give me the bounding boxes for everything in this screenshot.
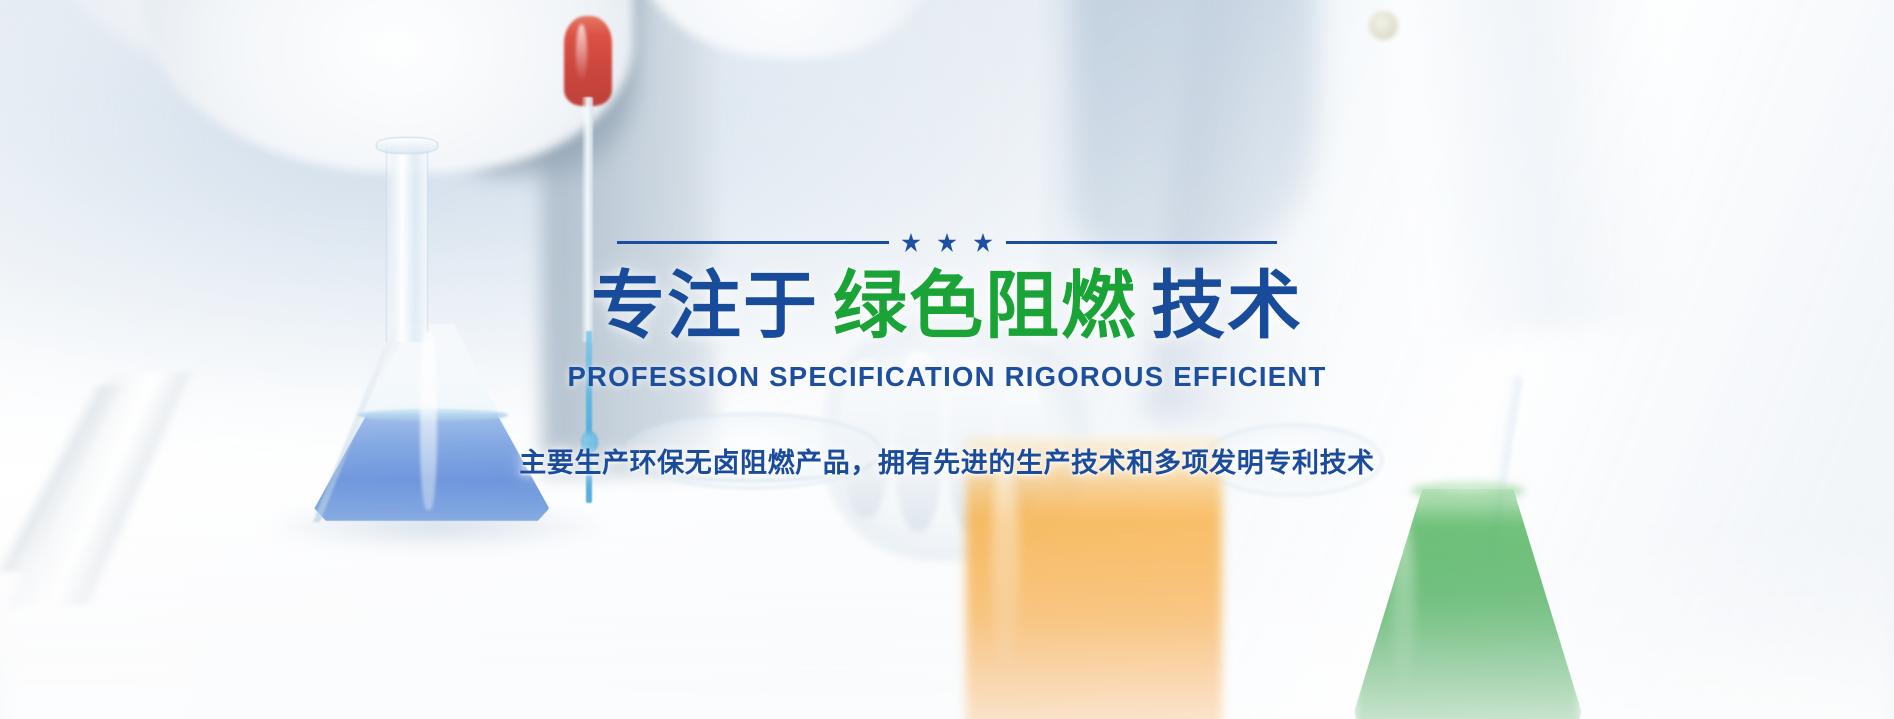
star-icon xyxy=(902,233,921,252)
page-title: 专注于绿色阻燃技术 xyxy=(591,268,1303,345)
divider-left xyxy=(617,241,889,244)
star-icon xyxy=(938,233,957,252)
headline-part-2: 绿色阻燃 xyxy=(819,264,1151,347)
headline-part-3: 技术 xyxy=(1151,264,1303,347)
divider-right xyxy=(1006,241,1278,244)
star-group xyxy=(902,233,993,252)
subtitle-english: PROFESSION SPECIFICATION RIGOROUS EFFICI… xyxy=(567,361,1326,393)
star-icon xyxy=(974,233,993,252)
hero-banner: 专注于绿色阻燃技术 PROFESSION SPECIFICATION RIGOR… xyxy=(0,0,1894,719)
headline-part-1: 专注于 xyxy=(591,264,819,347)
decorative-rule-with-stars xyxy=(617,233,1277,252)
banner-copy: 专注于绿色阻燃技术 PROFESSION SPECIFICATION RIGOR… xyxy=(0,0,1894,719)
banner-description: 主要生产环保无卤阻燃产品，拥有先进的生产技术和多项发明专利技术 xyxy=(519,441,1375,480)
